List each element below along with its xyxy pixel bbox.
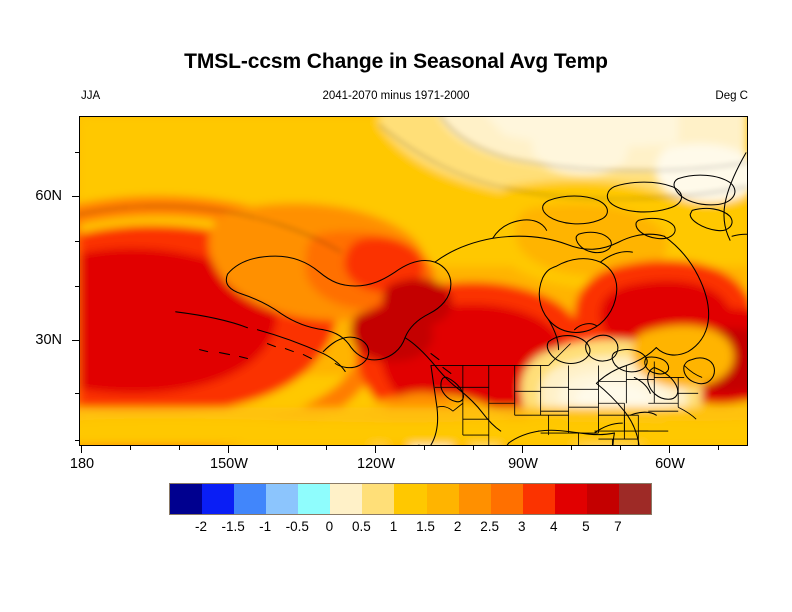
x-axis-label: 60W <box>655 456 685 472</box>
colorbar-swatch <box>170 484 202 514</box>
y-tick-major <box>72 196 79 197</box>
colorbar-swatch <box>523 484 555 514</box>
x-tick-major <box>669 446 670 453</box>
colorbar-swatch <box>394 484 426 514</box>
colorbar-swatch <box>266 484 298 514</box>
colorbar-swatch <box>234 484 266 514</box>
y-tick-minor <box>75 241 79 242</box>
colorbar-tick-label: 2 <box>454 519 462 534</box>
colorbar-swatch <box>330 484 362 514</box>
y-tick-minor <box>75 152 79 153</box>
colorbar-swatch <box>362 484 394 514</box>
temperature-contour-map <box>80 117 747 445</box>
map-plot-area <box>79 116 748 446</box>
colorbar-tick-label: 3 <box>518 519 526 534</box>
colorbar-tick-label: -0.5 <box>286 519 309 534</box>
x-tick-minor <box>130 446 131 450</box>
y-tick-major <box>72 340 79 341</box>
colorbar-tick-label: 1.5 <box>416 519 435 534</box>
x-tick-minor <box>326 446 327 450</box>
period-label: 2041-2070 minus 1971-2000 <box>0 90 792 102</box>
y-axis-label: 60N <box>35 188 62 204</box>
colorbar-tick-label: -2 <box>195 519 207 534</box>
x-tick-minor <box>571 446 572 450</box>
colorbar-swatch <box>459 484 491 514</box>
colorbar-tick-label: 0.5 <box>352 519 371 534</box>
colorbar-swatch <box>555 484 587 514</box>
x-axis-label: 120W <box>357 456 395 472</box>
units-label: Deg C <box>715 90 748 102</box>
x-axis-label: 150W <box>210 456 248 472</box>
y-tick-minor <box>75 286 79 287</box>
x-tick-major <box>375 446 376 453</box>
x-tick-minor <box>179 446 180 450</box>
colorbar-swatch <box>202 484 234 514</box>
x-tick-minor <box>277 446 278 450</box>
colorbar-swatch <box>587 484 619 514</box>
colorbar-tick-label: -1.5 <box>221 519 244 534</box>
colorbar-tick-label: 0 <box>326 519 334 534</box>
colorbar-swatch <box>491 484 523 514</box>
colorbar <box>169 483 652 515</box>
colorbar-tick-label: 7 <box>614 519 622 534</box>
colorbar-swatch <box>427 484 459 514</box>
x-axis-label: 180 <box>70 456 94 472</box>
contour-band-group <box>80 117 747 445</box>
x-tick-minor <box>473 446 474 450</box>
colorbar-tick-label: 5 <box>582 519 590 534</box>
colorbar-swatch <box>619 484 651 514</box>
colorbar-tick-label: -1 <box>259 519 271 534</box>
y-tick-minor <box>75 440 79 441</box>
colorbar-tick-label: 2.5 <box>480 519 499 534</box>
y-axis-label: 30N <box>35 332 62 348</box>
x-tick-minor <box>620 446 621 450</box>
x-tick-major <box>228 446 229 453</box>
figure-root: TMSL-ccsm Change in Seasonal Avg Temp JJ… <box>0 0 792 612</box>
x-tick-minor <box>718 446 719 450</box>
x-tick-minor <box>424 446 425 450</box>
x-axis-label: 90W <box>508 456 538 472</box>
y-tick-minor <box>75 393 79 394</box>
x-tick-major <box>522 446 523 453</box>
colorbar-tick-label: 4 <box>550 519 558 534</box>
colorbar-tick-label: 1 <box>390 519 398 534</box>
x-tick-major <box>81 446 82 453</box>
colorbar-swatch <box>298 484 330 514</box>
page-title: TMSL-ccsm Change in Seasonal Avg Temp <box>0 50 792 74</box>
